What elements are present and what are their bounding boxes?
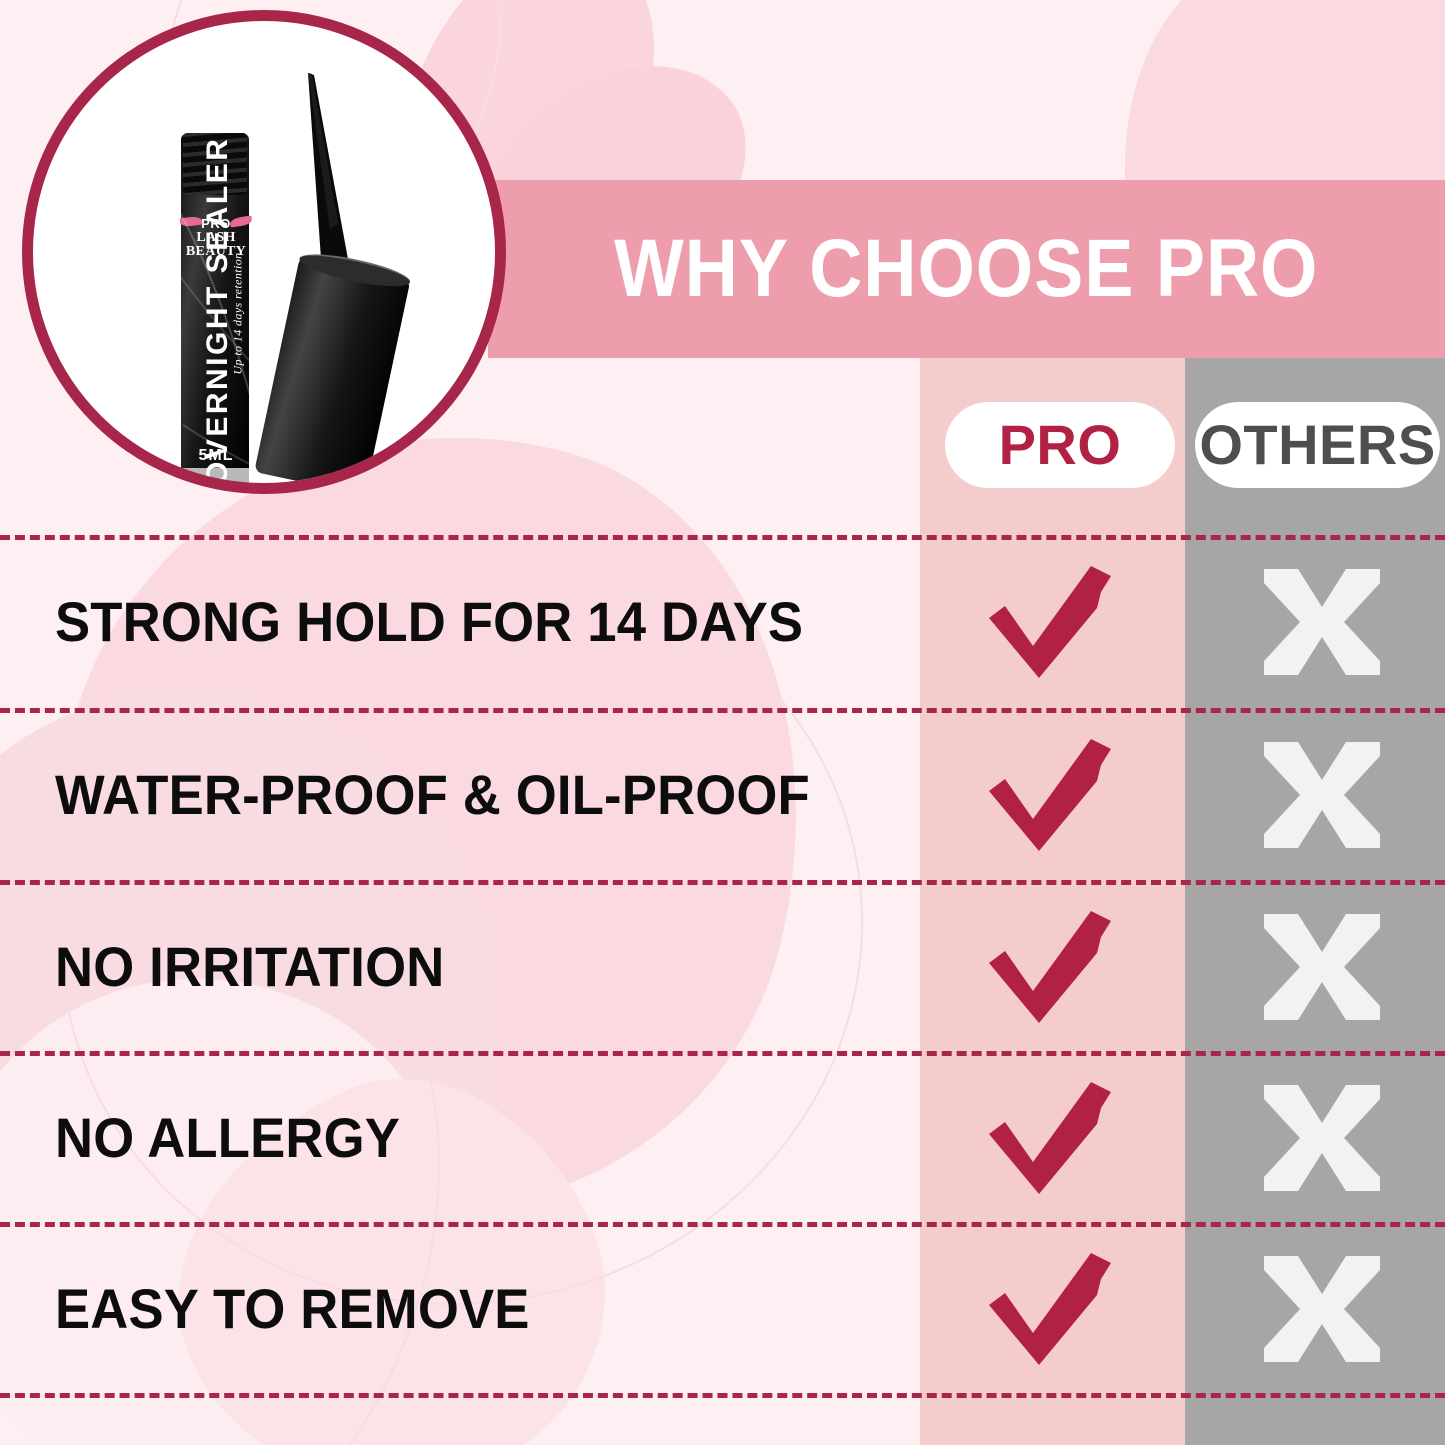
table-row: NO IRRITATION bbox=[0, 881, 1445, 1053]
check-icon bbox=[985, 1078, 1115, 1198]
check-icon bbox=[985, 735, 1115, 855]
header-banner: WHY CHOOSE PRO bbox=[488, 180, 1445, 358]
others-column-header-pill: OTHERS bbox=[1195, 402, 1440, 488]
page-title: WHY CHOOSE PRO bbox=[614, 228, 1318, 310]
product-image-circle: PRO LASH BEAUTY OVERNIGHT SEALER Up to 1… bbox=[22, 10, 506, 494]
table-row: NO ALLERGY bbox=[0, 1052, 1445, 1224]
x-icon bbox=[1258, 1250, 1386, 1368]
others-column-label: OTHERS bbox=[1199, 417, 1435, 473]
check-icon bbox=[985, 562, 1115, 682]
x-icon bbox=[1258, 563, 1386, 681]
pro-column-header-pill: PRO bbox=[945, 402, 1175, 488]
why-choose-pro-infographic: WHY CHOOSE PRO PRO OTHERS STRONG HOLD FO… bbox=[0, 0, 1445, 1445]
bottle-neck bbox=[183, 133, 247, 195]
feature-label: WATER-PROOF & OIL-PROOF bbox=[55, 767, 810, 823]
table-row: WATER-PROOF & OIL-PROOF bbox=[0, 709, 1445, 881]
check-icon bbox=[985, 907, 1115, 1027]
x-icon bbox=[1258, 908, 1386, 1026]
table-row: STRONG HOLD FOR 14 DAYS bbox=[0, 536, 1445, 708]
feature-label: EASY TO REMOVE bbox=[55, 1281, 530, 1337]
check-icon bbox=[985, 1249, 1115, 1369]
x-icon bbox=[1258, 1079, 1386, 1197]
feature-label: NO ALLERGY bbox=[55, 1110, 400, 1166]
feature-label: NO IRRITATION bbox=[55, 939, 444, 995]
product-bottle: PRO LASH BEAUTY OVERNIGHT SEALER Up to 1… bbox=[33, 21, 506, 494]
x-icon bbox=[1258, 736, 1386, 854]
feature-label: STRONG HOLD FOR 14 DAYS bbox=[55, 594, 803, 650]
bottle-base bbox=[181, 468, 249, 484]
table-row: EASY TO REMOVE bbox=[0, 1223, 1445, 1395]
pro-column-label: PRO bbox=[999, 417, 1122, 473]
